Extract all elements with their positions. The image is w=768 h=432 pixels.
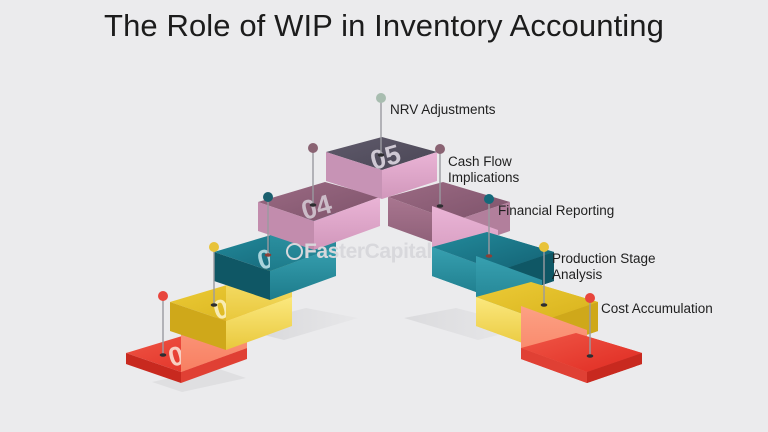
staircase-svg: 01 02 03 <box>0 0 768 432</box>
label-cost-accumulation: Cost Accumulation <box>601 301 713 317</box>
label-cash-flow-implications: Cash Flow Implications <box>448 154 519 187</box>
slide-canvas: The Role of WIP in Inventory Accounting <box>0 0 768 432</box>
watermark-text: FasterCapital <box>304 240 432 263</box>
label-nrv-adjustments: NRV Adjustments <box>390 102 496 118</box>
circle-logo-icon <box>286 243 303 260</box>
watermark: FasterCapital <box>286 240 476 264</box>
label-financial-reporting: Financial Reporting <box>498 203 614 219</box>
infographic-diagram: 01 02 03 <box>0 0 768 432</box>
label-production-stage-analysis: Production Stage Analysis <box>552 251 656 284</box>
